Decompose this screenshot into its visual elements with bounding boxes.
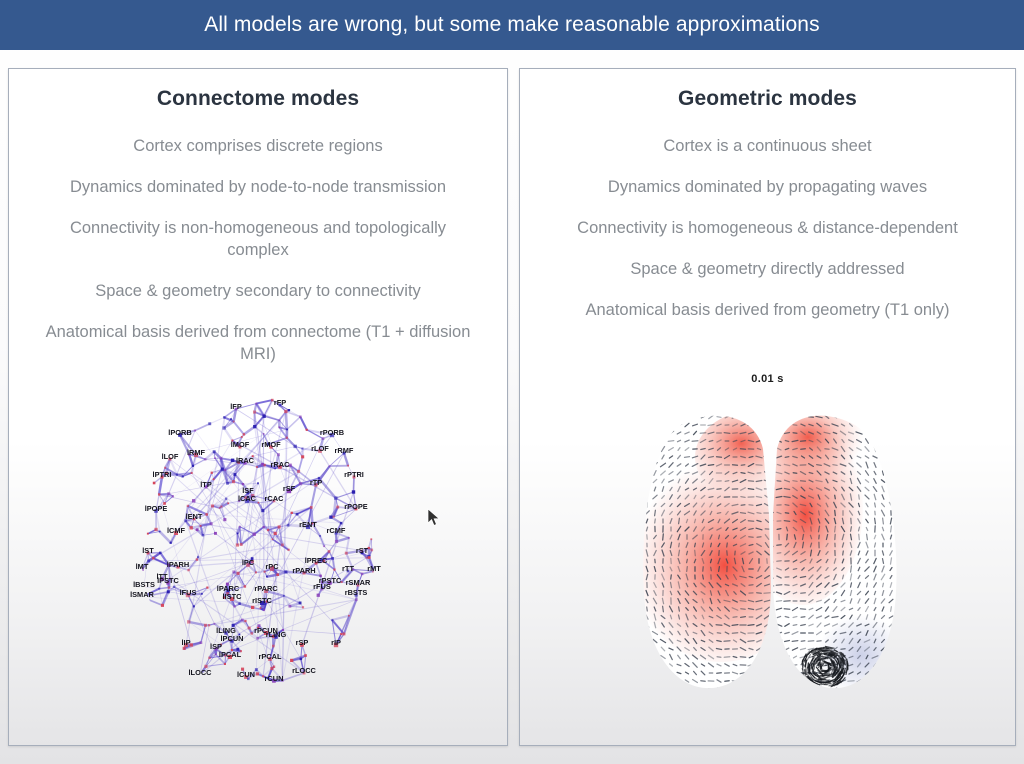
connectome-node-label: rLOF [311,444,329,453]
connectome-node-label: rCUN [265,674,284,683]
connectome-node-label: rISTC [252,596,272,605]
bullet-item: Anatomical basis derived from geometry (… [585,299,949,321]
bullet-item: Connectivity is homogeneous & distance-d… [577,217,958,239]
connectome-node-label: lCMF [167,526,186,535]
connectome-node-label: rMT [367,564,381,573]
figure-connectome-network: lFPrFPlPORBrPORBlMOFrMOFlRMFrRMFlRACrRAC… [9,387,507,737]
connectome-node-label: lST [142,546,154,555]
bullet-item: Cortex comprises discrete regions [133,135,382,157]
slide-header-bar: All models are wrong, but some make reas… [0,0,1024,50]
connectome-node-label: lRAC [236,456,255,465]
connectome-node-label: lENT [186,512,203,521]
connectome-node-label: rCMF [327,526,346,535]
panel-geometric-modes: Geometric modes Cortex is a continuous s… [519,68,1016,746]
slide-canvas: All models are wrong, but some make reas… [0,0,1024,764]
panel-title-connectome: Connectome modes [9,87,507,111]
connectome-node-label: lCUN [237,670,255,679]
connectome-node-label: lRMF [187,448,206,457]
connectome-node-label: rPARH [292,566,315,575]
bullet-item: Anatomical basis derived from connectome… [38,321,478,365]
connectome-node-label: rENT [299,520,317,529]
panel-title-geometric: Geometric modes [520,87,1015,111]
connectome-node-label: rTT [342,564,354,573]
bullet-item: Space & geometry secondary to connectivi… [95,280,421,302]
connectome-node-label: lPCUN [221,634,244,643]
connectome-node-label: lFP [230,402,242,411]
connectome-node-label: lMT [136,562,149,571]
connectome-node-label: rLOCC [292,666,316,675]
connectome-node-label: lSMAR [130,590,154,599]
connectome-node-label: lFUS [180,588,197,597]
connectome-node-label: lLOF [162,452,179,461]
connectome-node-label: lPC [242,558,255,567]
connectome-graph: lFPrFPlPORBrPORBlMOFrMOFlRMFrRMFlRACrRAC… [108,387,408,707]
connectome-node-label: rSP [296,638,309,647]
connectome-node-label: lPREC [305,556,328,565]
bullet-item: Dynamics dominated by node-to-node trans… [70,176,446,198]
slide-title: All models are wrong, but some make reas… [204,13,819,37]
bullet-item: Space & geometry directly addressed [630,258,904,280]
connectome-node-label: lPTRI [153,470,172,479]
connectome-svg: lFPrFPlPORBrPORBlMOFrMOFlRMFrRMFlRACrRAC… [108,387,408,707]
time-stamp-label: 0.01 s [603,373,933,385]
connectome-node-label: lMOF [231,440,250,449]
connectome-node-label: rPCAL [259,652,282,661]
wave-vector-field: 0.01 s [603,387,933,717]
connectome-node-label: lPCAL [219,650,242,659]
connectome-node-label: rSMAR [346,578,371,587]
connectome-node-label: rPC [265,562,279,571]
connectome-node-label: lIP [181,638,190,647]
connectome-node-label: rPCUN [254,626,278,635]
connectome-node-label: rFP [274,398,286,407]
bullet-item: Connectivity is non-homogeneous and topo… [38,217,478,261]
connectome-node-label: rPARC [254,584,278,593]
connectome-node-label: rPTRI [344,470,364,479]
connectome-node-label: rMOF [261,440,281,449]
connectome-node-label: lPOPE [145,504,168,513]
connectome-node-label: rCAC [265,494,285,503]
bullet-item: Cortex is a continuous sheet [663,135,871,157]
connectome-node-label: lBSTS [133,580,155,589]
bullet-item: Dynamics dominated by propagating waves [608,176,927,198]
connectome-node-label: lLOCC [189,668,213,677]
figure-geometric-waves: 0.01 s [520,387,1015,737]
bullet-list-geometric: Cortex is a continuous sheet Dynamics do… [520,135,1015,340]
connectome-node-label: rPOPE [344,502,367,511]
connectome-node-label: rST [356,546,369,555]
connectome-node-label: lTP [200,480,212,489]
connectome-node-label: lPSTC [157,576,179,585]
connectome-node-label: rBSTS [345,588,368,597]
bullet-list-connectome: Cortex comprises discrete regions Dynami… [9,135,507,384]
panel-connectome-modes: Connectome modes Cortex comprises discre… [8,68,508,746]
connectome-node-label: lPORB [168,428,191,437]
connectome-node-label: lISTC [223,592,243,601]
connectome-node-label: rRAC [271,460,291,469]
connectome-node-label: rRMF [335,446,354,455]
connectome-node-label: rTP [310,478,322,487]
connectome-node-label: rFUS [313,582,331,591]
connectome-node-label: rIP [331,638,341,647]
connectome-node-label: rSF [283,484,296,493]
connectome-node-label: lPARH [167,560,189,569]
connectome-node-label: rPORB [320,428,344,437]
connectome-node-label: lCAC [238,494,257,503]
wave-field-svg [603,387,933,717]
